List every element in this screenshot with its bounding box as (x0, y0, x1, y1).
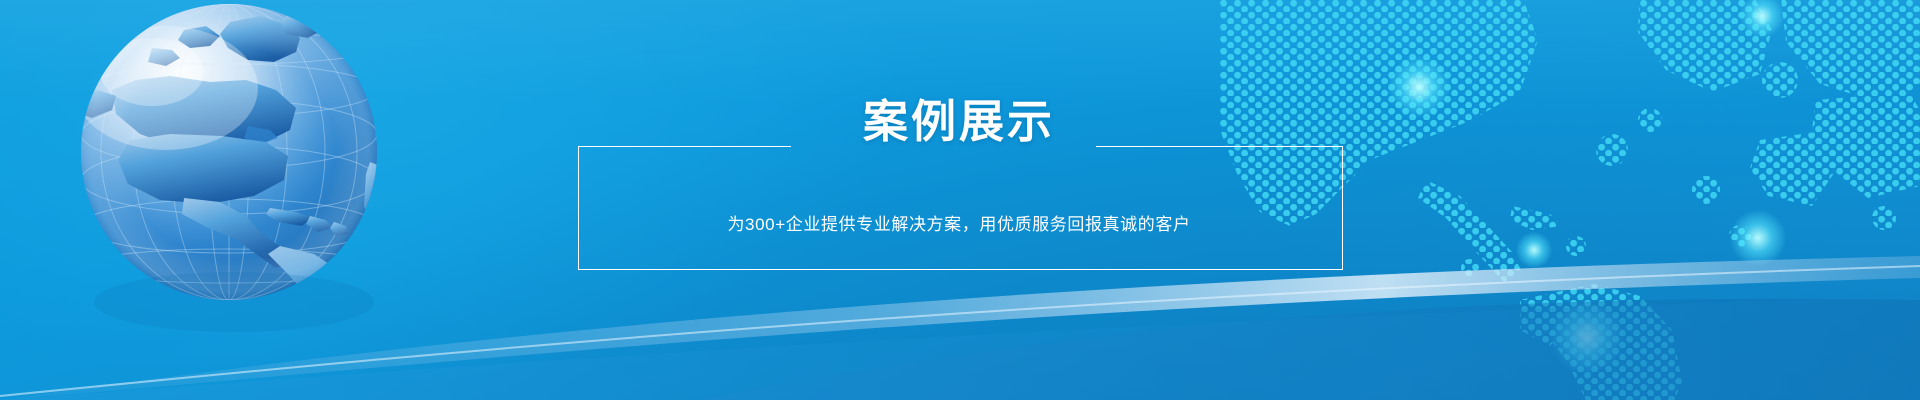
page-title: 案例展示 (0, 93, 1919, 151)
frame-bottom-edge (578, 269, 1343, 270)
frame-left-edge (578, 146, 579, 270)
page-subtitle: 为300+企业提供专业解决方案，用优质服务回报真诚的客户 (0, 213, 1919, 237)
title-frame (578, 146, 1343, 270)
case-showcase-banner: 案例展示 为300+企业提供专业解决方案，用优质服务回报真诚的客户 (0, 0, 1920, 400)
frame-right-edge (1342, 146, 1343, 270)
